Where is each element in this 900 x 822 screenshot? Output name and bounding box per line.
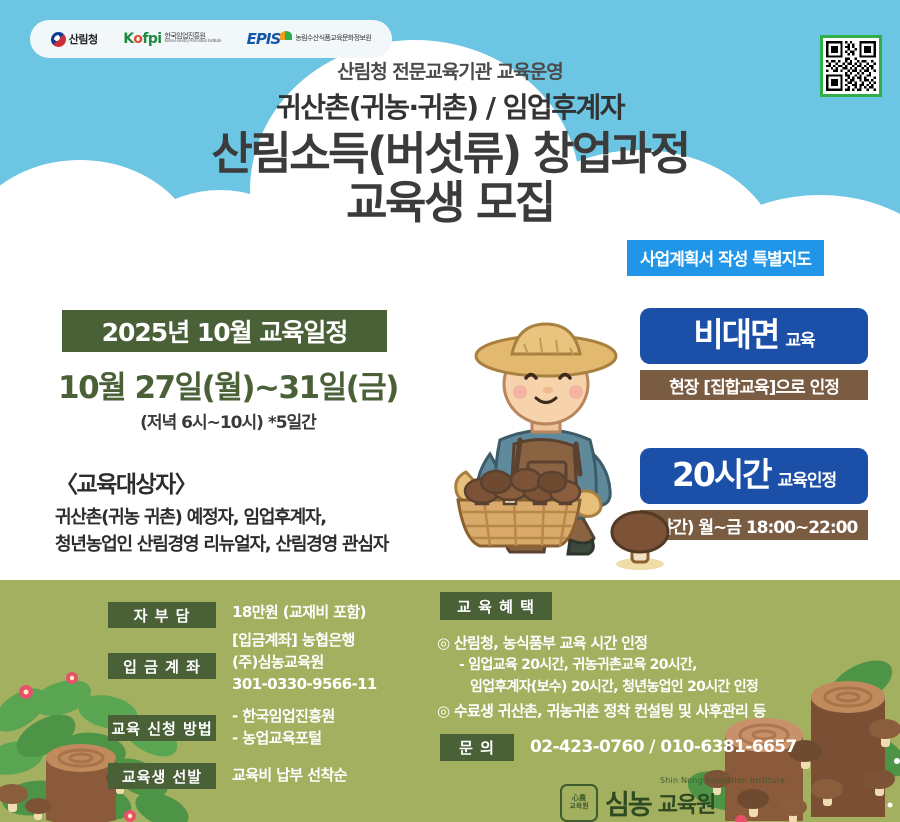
institute-name-english: Shin Nong Education Institute	[660, 776, 785, 785]
badge-hours-big: 20시간	[672, 448, 771, 496]
target-line-1: 귀산촌(귀농 귀촌) 예정자, 임업후계자,	[55, 503, 326, 529]
headline-kicker: 산림청 전문교육기관 교육운영	[0, 62, 900, 83]
institute-logo: 心農 교육원 심농 교육원	[560, 783, 715, 822]
schedule-note: (저녁 6시~10시) *5일간	[48, 408, 408, 433]
logo-epis-sub: 농림수산식품교육문화정보원	[295, 35, 371, 42]
schedule-date-range: 10월 27일(월)~31일(금)	[48, 362, 408, 407]
institute-name-2: 교육원	[658, 787, 716, 819]
benefits-tag: 교 육 혜 택	[440, 592, 552, 620]
headline-title-1: 산림소득(버섯류) 창업과정	[0, 130, 900, 177]
plan-guidance-badge: 사업계획서 작성 특별지도	[627, 240, 824, 276]
poster-root: 산림청 Kofpi 한국임업진흥원 Korea Forestry Promoti…	[0, 0, 900, 822]
middle-section: 2025년 10월 교육일정 10월 27일(월)~31일(금) (저녁 6시~…	[0, 300, 900, 580]
headline-subhead: 귀산촌(귀농·귀촌) / 임업후계자	[0, 93, 900, 124]
qr-code-image	[826, 41, 876, 91]
row-value-apply-2: - 농업교육포털	[232, 728, 321, 750]
logo-forest-service: 산림청	[51, 31, 98, 47]
logo-epis: EPIS 농림수산식품교육문화정보원	[247, 30, 372, 48]
benefits-line-3: 임업후계자(보수) 20시간, 청년농업인 20시간 인정	[470, 676, 758, 696]
row-value-apply-1: - 한국임업진흥원	[232, 706, 335, 728]
agency-logo-bar: 산림청 Kofpi 한국임업진흥원 Korea Forestry Promoti…	[30, 20, 392, 58]
qr-code[interactable]	[820, 35, 882, 97]
badge-hours-small: 교육인정	[778, 466, 837, 491]
institute-name: 심농	[605, 783, 651, 822]
schedule-heading-bar: 2025년 10월 교육일정	[62, 310, 387, 352]
benefits-line-1: ◎ 산림청, 농식품부 교육 시간 인정	[437, 632, 647, 653]
farmer-illustration	[428, 314, 678, 570]
logo-kofpi: Kofpi 한국임업진흥원 Korea Forestry Promotion I…	[123, 31, 221, 47]
target-line-2: 청년농업인 산림경영 리뉴얼자, 산림경영 관심자	[55, 530, 388, 556]
institute-mark-line-2: 교육원	[569, 803, 588, 810]
row-value-account-2: (주)심농교육원	[232, 652, 324, 674]
logo-epis-wordmark: EPIS	[247, 30, 281, 48]
benefits-line-4: ◎ 수료생 귀산촌, 귀농귀촌 정착 컨설팅 및 사후관리 등	[437, 700, 766, 721]
row-value-account-1: [입금계좌] 농협은행	[232, 630, 355, 652]
institute-logo-mark: 心農 교육원	[560, 784, 598, 822]
target-heading: 〈교육대상자〉	[55, 465, 196, 499]
row-value-account-3: 301-0330-9566-11	[232, 674, 377, 696]
badge-online-big: 비대면	[693, 308, 778, 356]
row-tag-selection: 교육생 선발	[108, 763, 216, 789]
schedule-heading-label: 2025년 10월 교육일정	[102, 313, 348, 349]
taegeuk-icon	[51, 32, 66, 47]
headline-title-2: 교육생 모집	[0, 179, 900, 226]
headline-block: 산림청 전문교육기관 교육운영 귀산촌(귀농·귀촌) / 임업후계자 산림소득(…	[0, 62, 900, 226]
logo-kofpi-wordmark: Kofpi	[123, 31, 161, 47]
badge-online-small: 교육	[785, 326, 814, 351]
swoosh-icon	[280, 31, 292, 40]
contact-phones[interactable]: 02-423-0760 / 010-6381-6657	[530, 735, 797, 760]
institute-mark-line-1: 心農	[572, 795, 586, 802]
row-tag-apply: 교육 신청 방법	[108, 715, 216, 741]
row-tag-account: 입 금 계 좌	[108, 653, 216, 679]
row-value-selection: 교육비 납부 선착순	[232, 765, 347, 787]
contact-tag: 문 의	[440, 734, 514, 761]
row-value-fee: 18만원 (교재비 포함)	[232, 602, 366, 624]
logo-kofpi-sub: 한국임업진흥원 Korea Forestry Promotion Institu…	[164, 33, 221, 45]
logo-forest-service-label: 산림청	[69, 31, 98, 47]
row-tag-fee: 자 부 담	[108, 602, 216, 628]
benefits-line-2: - 임업교육 20시간, 귀농귀촌교육 20시간,	[459, 654, 697, 674]
bottom-info-section: 자 부 담 18만원 (교재비 포함) 입 금 계 좌 [입금계좌] 농협은행 …	[0, 580, 900, 822]
